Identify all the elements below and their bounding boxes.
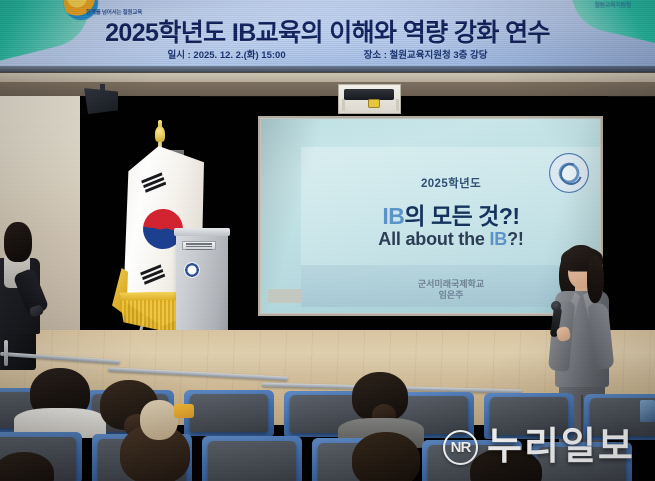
flag-finial-icon [155,126,165,142]
railing-post [4,340,8,366]
podium-top-surface [174,228,230,236]
slide-title-korean-rest: 의 모든 것?! [404,203,519,229]
slide-title-korean: IB의 모든 것?! [301,197,600,231]
banner-bottom-shadow [0,66,655,73]
podium-emblem-icon [184,262,200,278]
nuri-ilbo-logo-icon: NR [443,430,478,465]
watermark-text: 누리일보 [487,428,635,466]
photograph-root: 한계를 넘어서는 철원교육 철원교육지원청 2025학년도 IB교육의 이해와 … [0,0,655,481]
attendee-hand-holding-phone [29,304,44,318]
plush-accessory [140,400,178,440]
slide-title-english-prefix: All about the [378,229,489,249]
slide-title-english-suffix: ?! [507,229,524,249]
watermark: NR 누리일보 [443,428,635,466]
podium-control-panel [182,241,216,250]
banner-title: 2025학년도 IB교육의 이해와 역량 강화 연수 [0,13,655,49]
attendee-hair [4,222,32,262]
slide-ib-token-en: IB [490,229,508,249]
banner-date-label: 일시 : 2025. 12. 2.(화) 15:00 [168,47,286,61]
banner-place-label: 장소 : 철원교육지원청 3층 강당 [364,47,488,61]
slide-ib-token: IB [382,203,404,229]
presenter-hair-side [587,255,604,303]
yellow-accessory [174,404,194,418]
slide-year: 2025학년도 [301,175,600,191]
ceiling-speaker-icon [84,88,118,114]
seat-cushion [208,441,296,481]
projector-leg [396,99,399,111]
screen-lower-tab [268,289,302,303]
seat-cushion [190,394,268,432]
banner-right-tag: 철원교육지원청 [594,0,631,9]
audience-head [352,432,420,481]
device-screen [640,400,655,422]
banner-subtitle-row: 일시 : 2025. 12. 2.(화) 15:00 장소 : 철원교육지원청 … [0,47,655,61]
projector-leg [342,99,345,111]
projector-lens-icon [368,99,380,108]
led-banner: 한계를 넘어서는 철원교육 철원교육지원청 2025학년도 IB교육의 이해와 … [0,0,655,72]
